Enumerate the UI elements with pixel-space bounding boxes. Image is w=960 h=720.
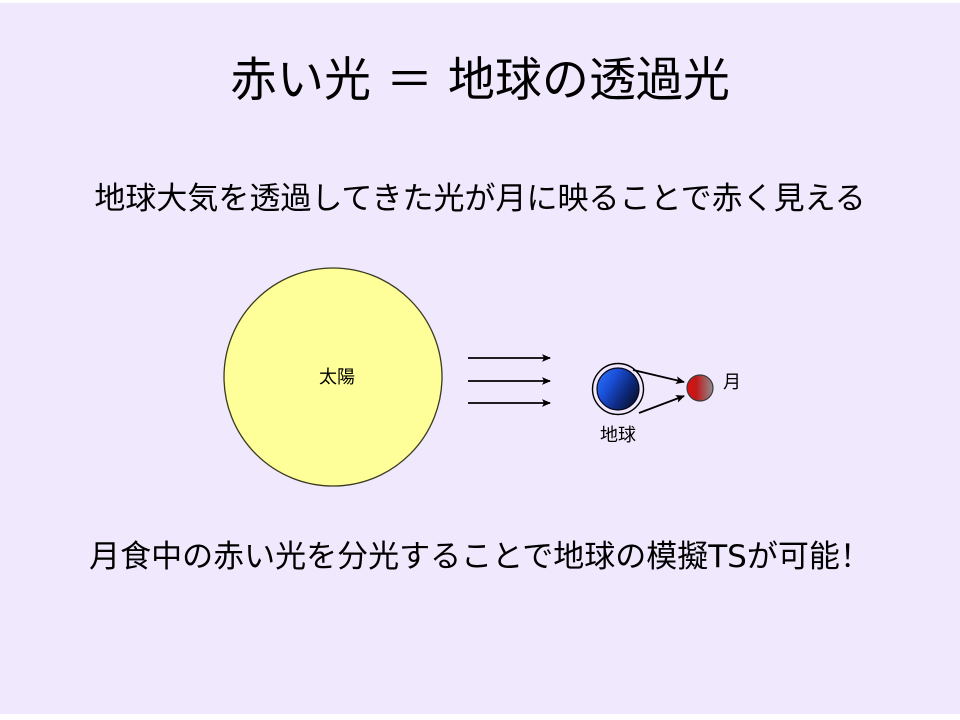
refracted-ray-lower — [639, 396, 684, 413]
conclusion-text: 月食中の赤い光を分光することで地球の模擬TSが可能！ — [0, 536, 960, 578]
moon-circle — [687, 375, 713, 401]
moon-label: 月 — [723, 371, 773, 395]
earth-label: 地球 — [578, 424, 658, 448]
earth-circle — [597, 368, 639, 410]
slide-root: 赤い光 ＝ 地球の透過光 地球大気を透過してきた光が月に映ることで赤く見える — [0, 0, 960, 720]
sun-label: 太陽 — [287, 366, 387, 390]
sunlight-rays — [468, 358, 550, 403]
eclipse-diagram — [0, 0, 960, 720]
